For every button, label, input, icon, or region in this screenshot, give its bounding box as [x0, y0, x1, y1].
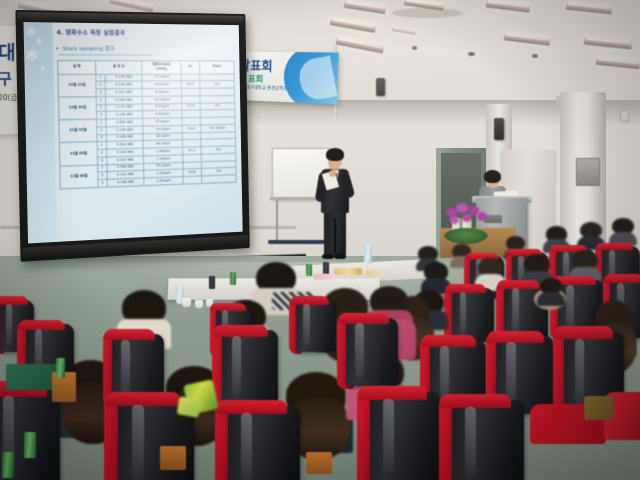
banner-org: 대구대학교 환경공학과 — [246, 85, 288, 92]
presenter-shoe — [322, 254, 334, 259]
orchid-flower — [477, 212, 487, 221]
seat — [370, 392, 440, 480]
drink-can — [56, 358, 65, 378]
drink-can — [2, 452, 14, 478]
table-cell: 2 — [96, 82, 105, 90]
banner-subtitle: 표회 — [248, 72, 264, 85]
audience-person — [424, 262, 448, 292]
table-cell: 2 — [96, 104, 105, 112]
green-divider-panel — [6, 364, 58, 390]
snack-plate — [314, 274, 336, 280]
presenter-hair — [326, 148, 344, 161]
table-cell-date: 11월 05일 — [59, 142, 97, 166]
drink-can — [323, 262, 329, 274]
presenter-leg-split — [334, 218, 336, 254]
seat — [222, 330, 278, 404]
orchid-flower — [450, 216, 459, 224]
drink-can — [230, 272, 236, 285]
table-header-row: 날 짜흡 광 도염화수소농도(PPM)VsTime — [58, 61, 234, 74]
ceiling-sensor — [412, 46, 417, 50]
snowflake-icon: ❄ — [40, 66, 46, 73]
table-cell — [201, 175, 236, 184]
paper-cup — [182, 298, 191, 307]
snack-plate — [334, 268, 362, 275]
seat — [346, 318, 398, 386]
table-body: 10월 29일10.276 ABS73.23ppm 20.116 ABS6.94… — [58, 74, 236, 189]
table-cell: 0.276 ABS — [105, 74, 142, 82]
slide-bullet: Stack sampling 결과 — [63, 44, 115, 52]
table-cell: 3 — [98, 179, 107, 187]
orchid-flower — [456, 203, 468, 213]
drink-can — [209, 276, 215, 289]
orchid-flower — [462, 214, 472, 222]
table-cell-date: 10월 30일 — [58, 97, 96, 120]
presenter — [312, 148, 356, 260]
audience-person — [612, 218, 634, 244]
flower-stem — [460, 214, 462, 230]
event-banner: 발표회 표회 대구대학교 환경공학과 — [235, 51, 339, 104]
table-header-cell-1: 흡 광 도 — [95, 61, 142, 74]
wall-switch — [620, 110, 629, 122]
ceiling-smudge — [392, 8, 462, 18]
drink-can — [24, 432, 36, 458]
whiteboard-leg — [276, 200, 278, 242]
table-cell-date: 11월 08일 — [60, 165, 98, 189]
flower-stem — [472, 216, 474, 230]
presenter-hand — [329, 170, 336, 177]
wall-speaker-icon — [494, 118, 504, 140]
moderator-hair — [484, 170, 501, 183]
seat — [452, 400, 524, 480]
table-cell-date: 11월 02일 — [59, 119, 97, 143]
projection-screen: ❄ ❄ ❄ ❄ 4. 염화수소 측정 실험결과 Stack sampling 결… — [15, 10, 249, 262]
table-cell — [181, 74, 199, 81]
audience-person — [540, 278, 562, 304]
water-bottle — [364, 244, 372, 264]
table-cell: 3 — [96, 112, 105, 120]
paper-cup — [195, 300, 203, 308]
seat — [228, 406, 300, 480]
ceiling-sensor — [468, 52, 475, 56]
table-cell: 1 — [96, 74, 105, 82]
ceiling-sensor — [532, 54, 538, 58]
slide-title: 4. 염화수소 측정 실험결과 — [57, 27, 126, 37]
presenter-shoe — [334, 254, 346, 259]
table-header-cell-4: Time — [199, 61, 234, 74]
table-cell-date: 10월 29일 — [58, 74, 96, 97]
table-header-cell-0: 날 짜 — [58, 61, 96, 74]
drink-can — [306, 264, 312, 276]
poster-line1: 대 — [0, 38, 16, 65]
slide-surface: ❄ ❄ ❄ ❄ 4. 염화수소 측정 실험결과 Stack sampling 결… — [23, 22, 242, 243]
table-cell: 1.91ppm — [144, 177, 183, 186]
table-cell: 3 — [96, 89, 105, 97]
lecture-hall-photo: 대 구 · 20(금) 발표회 표회 대구대학교 환경공학과 ❄ ❄ ❄ ❄ 4… — [0, 0, 640, 480]
handbag — [584, 396, 614, 420]
table-cell: 0.106 ABS — [107, 178, 144, 187]
armrest — [306, 452, 332, 474]
foliage — [444, 228, 488, 244]
snowflake-icon: ❄ — [25, 48, 39, 65]
table-header-cell-3: Vs — [181, 61, 199, 74]
wall-vent — [576, 158, 600, 186]
slide-side-decoration: ❄ ❄ ❄ ❄ — [23, 22, 57, 243]
table-cell: 1 — [96, 97, 105, 105]
slide-data-table: 날 짜흡 광 도염화수소농도(PPM)VsTime 10월 29일10.276 … — [57, 60, 236, 189]
wall-pipe — [556, 96, 560, 106]
table-cell: 46.5 — [181, 81, 199, 88]
table-header-cell-2: 염화수소농도(PPM) — [142, 61, 181, 74]
snack-plate — [366, 270, 382, 276]
snack-bag — [177, 396, 202, 418]
table-cell — [183, 176, 201, 184]
slide-bullet-underline — [59, 54, 152, 55]
armrest — [160, 446, 186, 470]
wall-speaker-icon — [376, 78, 385, 96]
seat — [296, 300, 336, 352]
